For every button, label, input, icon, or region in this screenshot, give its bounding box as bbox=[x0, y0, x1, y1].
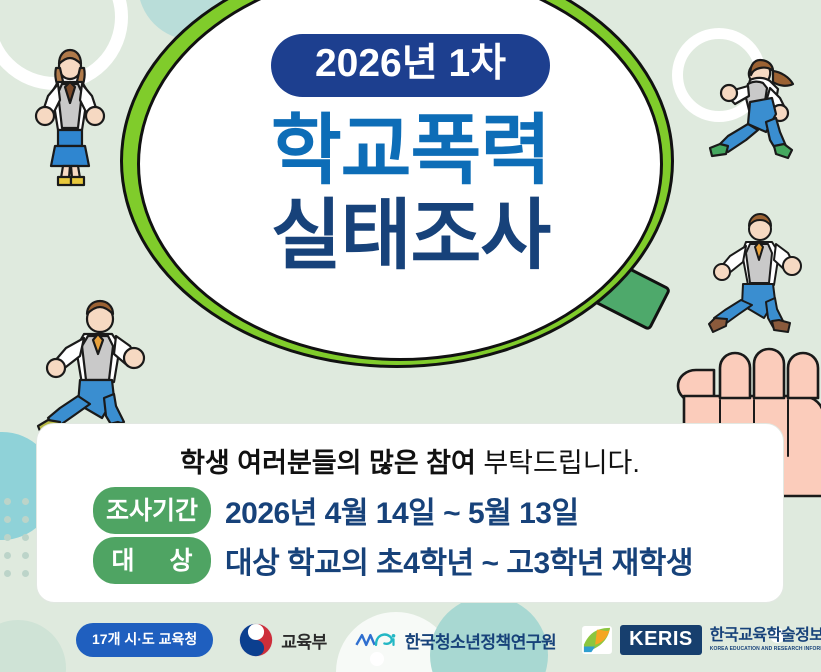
logo-nypi: 한국청소년정책연구원 bbox=[355, 628, 556, 653]
keris-wordmark: KERIS bbox=[620, 625, 702, 655]
page-title-line1: 학교폭력 bbox=[271, 113, 550, 190]
logo-moe: 교육부 bbox=[239, 623, 326, 657]
info-row-period: 조사기간 2026년 4월 14일 ~ 5월 13일 bbox=[93, 487, 783, 534]
value-survey-period: 2026년 4월 14일 ~ 5월 13일 bbox=[225, 488, 579, 532]
info-card: 학생 여러분들의 많은 참여 부탁드립니다. 조사기간 2026년 4월 14일… bbox=[36, 423, 784, 603]
keris-leaf-icon bbox=[582, 626, 612, 654]
nypi-logo-icon bbox=[355, 629, 397, 651]
headline-block: 2026년 1차 학교폭력 실태조사 bbox=[0, 0, 821, 400]
edu-offices-pill: 17개 시·도 교육청 bbox=[76, 623, 213, 657]
keris-name-en: KOREA EDUCATION AND RESEARCH INFORMATION… bbox=[710, 647, 821, 652]
poster-canvas: 2026년 1차 학교폭력 실태조사 학생 여러분들의 많은 참여 부탁드립니다… bbox=[0, 0, 821, 672]
info-row-target: 대 상 대상 학교의 초4학년 ~ 고3학년 재학생 bbox=[93, 537, 783, 584]
page-title-line2: 실태조사 bbox=[271, 198, 550, 275]
logo-keris: KERIS 한국교육학술정보원 KOREA EDUCATION AND RESE… bbox=[582, 625, 821, 655]
keris-name-ko: 한국교육학술정보원 bbox=[710, 628, 821, 645]
logo-label-moe: 교육부 bbox=[281, 628, 326, 653]
edition-badge: 2026년 1차 bbox=[271, 34, 550, 97]
participation-request-bold: 학생 여러분들의 많은 참여 bbox=[180, 448, 476, 478]
taegeuk-icon bbox=[239, 623, 273, 657]
participation-request-normal: 부탁드립니다. bbox=[476, 448, 640, 478]
label-survey-period: 조사기간 bbox=[93, 487, 211, 534]
footer-logo-bar: 17개 시·도 교육청 교육부 한국청소년정책연구원 bbox=[0, 608, 821, 672]
value-survey-target: 대상 학교의 초4학년 ~ 고3학년 재학생 bbox=[225, 538, 693, 582]
logo-label-nypi: 한국청소년정책연구원 bbox=[405, 628, 556, 653]
keris-fullname: 한국교육학술정보원 KOREA EDUCATION AND RESEARCH I… bbox=[710, 628, 821, 652]
participation-request-text: 학생 여러분들의 많은 참여 부탁드립니다. bbox=[37, 447, 783, 481]
label-survey-target: 대 상 bbox=[93, 537, 211, 584]
